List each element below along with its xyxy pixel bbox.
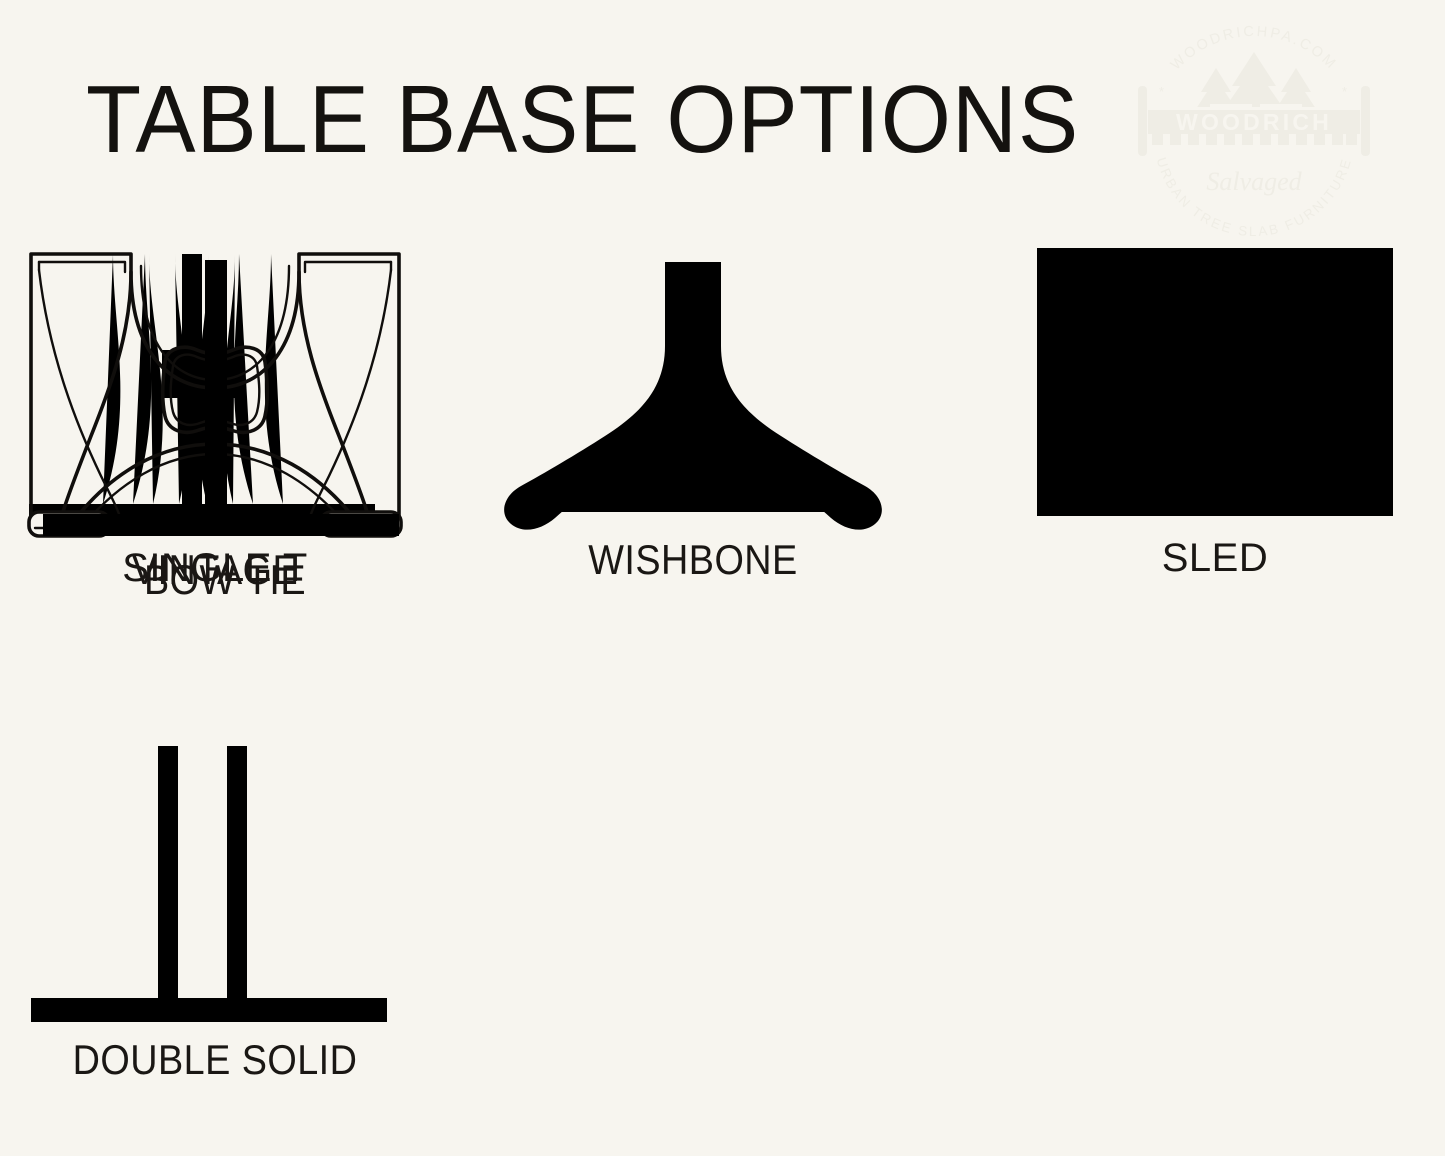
base-option-label: DOUBLE SOLID	[22, 1036, 409, 1084]
watermark-logo: WOODRICHPA.COM * *	[1128, 18, 1380, 240]
base-option-label: WISHBONE	[500, 536, 887, 584]
base-option-label: SINGLE T	[0, 546, 430, 591]
base-option-sled[interactable]: SLED	[1000, 236, 1430, 581]
base-option-double-solid[interactable]: DOUBLE SOLID	[0, 726, 430, 1084]
base-option-label: SLED	[1000, 536, 1430, 581]
base-options-grid: BOW TIE WISHBONE	[0, 236, 1445, 1136]
watermark-tree-icons	[1194, 52, 1318, 112]
watermark-wordmark: WOODRICH	[1176, 109, 1332, 135]
watermark-star-right-icon: *	[1342, 84, 1347, 99]
watermark-saw-blade	[1148, 104, 1360, 145]
single-t-base-icon	[15, 236, 415, 546]
watermark-arc-top-text: WOODRICHPA.COM	[1168, 24, 1340, 74]
double-solid-base-icon	[15, 726, 415, 1036]
watermark-script-text: Salvaged	[1206, 167, 1302, 196]
base-option-wishbone[interactable]: WISHBONE	[478, 236, 908, 584]
table-base-options-page: TABLE BASE OPTIONS WOODRICHPA.COM * *	[0, 0, 1445, 1156]
svg-text:URBAN TREE SLAB FURNITURE: URBAN TREE SLAB FURNITURE	[1154, 156, 1355, 239]
base-option-single-t[interactable]: SINGLE T	[0, 236, 430, 591]
svg-text:WOODRICHPA.COM: WOODRICHPA.COM	[1168, 24, 1340, 74]
watermark-arc-bottom-text: URBAN TREE SLAB FURNITURE	[1154, 156, 1355, 239]
page-title: TABLE BASE OPTIONS	[86, 72, 1079, 168]
sled-base-icon	[1015, 236, 1415, 536]
watermark-star-left-icon: *	[1159, 84, 1164, 99]
wishbone-base-icon	[493, 236, 893, 536]
